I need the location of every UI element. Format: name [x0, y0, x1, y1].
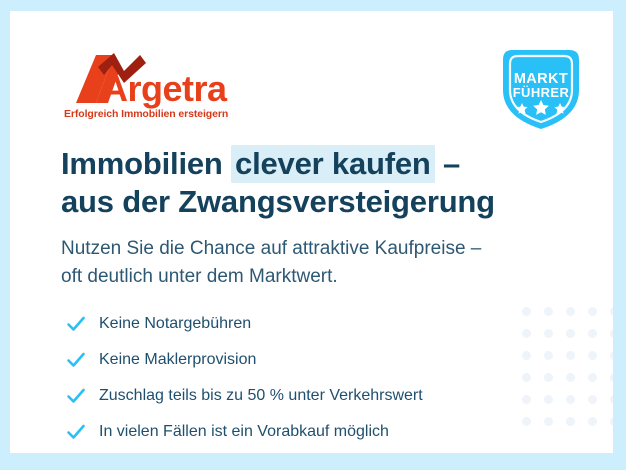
list-item-label: In vielen Fällen ist ein Vorabkauf mögli…: [99, 422, 389, 442]
banner-inner-card: Argetra Erfolgreich Immobilien ersteiger…: [10, 11, 613, 453]
dot: [522, 307, 531, 316]
dot: [522, 329, 531, 338]
dot: [566, 307, 575, 316]
dot: [610, 351, 613, 360]
headline-line-2: aus der Zwangsversteigerung: [61, 183, 581, 221]
list-item-label: Zuschlag teils bis zu 50 % unter Verkehr…: [99, 386, 423, 406]
badge-line2: FÜHRER: [513, 85, 570, 100]
list-item: Keine Notargebühren: [65, 309, 423, 339]
dot: [544, 329, 553, 338]
check-icon: [65, 313, 87, 335]
dot: [588, 373, 597, 382]
dot: [522, 395, 531, 404]
dot: [610, 395, 613, 404]
market-leader-badge: MARKT FÜHRER: [497, 44, 585, 132]
dot: [566, 329, 575, 338]
list-item-label: Keine Maklerprovision: [99, 350, 256, 370]
dot: [544, 307, 553, 316]
headline-suffix: –: [435, 146, 460, 181]
dot: [588, 307, 597, 316]
check-icon: [65, 385, 87, 407]
logo-wordmark: Argetra: [102, 68, 228, 109]
list-item: Keine Maklerprovision: [65, 345, 423, 375]
dot: [610, 307, 613, 316]
dot: [522, 351, 531, 360]
subheadline: Nutzen Sie die Chance auf attraktive Kau…: [61, 235, 581, 291]
dot: [588, 417, 597, 426]
dot: [566, 351, 575, 360]
logo-tagline: Erfolgreich Immobilien ersteigern: [64, 108, 228, 120]
dot: [588, 351, 597, 360]
promo-banner: Argetra Erfolgreich Immobilien ersteiger…: [0, 0, 626, 470]
dot: [588, 329, 597, 338]
dot: [544, 395, 553, 404]
dot: [522, 417, 531, 426]
dot: [566, 373, 575, 382]
dot: [566, 417, 575, 426]
dot: [610, 417, 613, 426]
headline: Immobilien clever kaufen – aus der Zwang…: [61, 145, 581, 221]
benefit-list: Keine Notargebühren Keine Maklerprovisio…: [65, 309, 423, 447]
argetra-logo[interactable]: Argetra Erfolgreich Immobilien ersteiger…: [62, 51, 262, 123]
headline-prefix: Immobilien: [61, 146, 231, 181]
dot-grid-decoration: [522, 307, 613, 439]
subheadline-line-2: oft deutlich unter dem Marktwert.: [61, 263, 581, 291]
list-item: In vielen Fällen ist ein Vorabkauf mögli…: [65, 417, 423, 447]
list-item-label: Keine Notargebühren: [99, 314, 251, 334]
headline-line-1: Immobilien clever kaufen –: [61, 145, 581, 183]
dot: [544, 351, 553, 360]
subheadline-line-1: Nutzen Sie die Chance auf attraktive Kau…: [61, 235, 581, 263]
dot: [588, 395, 597, 404]
dot: [544, 417, 553, 426]
dot: [522, 373, 531, 382]
check-icon: [65, 421, 87, 443]
check-icon: [65, 349, 87, 371]
dot: [544, 373, 553, 382]
dot: [610, 329, 613, 338]
dot: [566, 395, 575, 404]
list-item: Zuschlag teils bis zu 50 % unter Verkehr…: [65, 381, 423, 411]
dot: [610, 373, 613, 382]
headline-highlight: clever kaufen: [231, 145, 435, 183]
